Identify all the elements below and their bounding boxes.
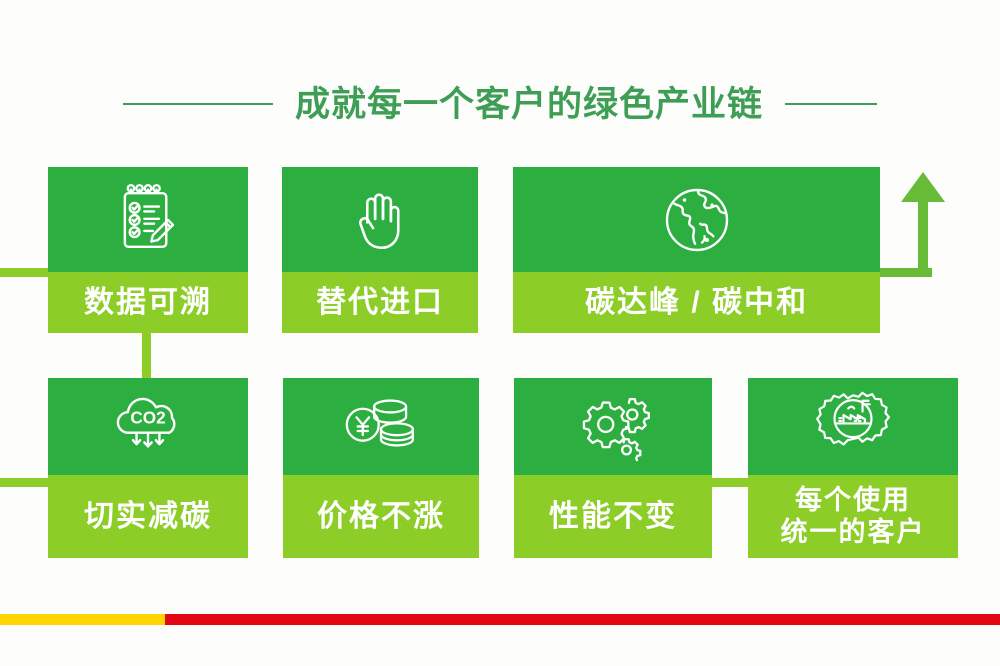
- card-label-text: 切实减碳: [84, 499, 212, 534]
- card-icon-area: [748, 378, 958, 475]
- card-label: 数据可溯: [48, 272, 248, 333]
- connector-stub-row1-left: [0, 268, 52, 277]
- bottom-bar-red: [165, 614, 1000, 625]
- svg-text:CO2: CO2: [130, 407, 165, 427]
- card-label: 价格不涨: [283, 475, 479, 558]
- factory-gear-icon: [814, 390, 892, 464]
- card-icon-area: CO2: [48, 378, 248, 475]
- flow-arrow-shaft: [918, 196, 928, 274]
- card-carbon-reduction[interactable]: CO2 切实减碳: [48, 378, 248, 558]
- card-label: 替代进口: [282, 272, 478, 333]
- card-icon-area: [48, 167, 248, 272]
- card-label: 每个使用统一的客户: [748, 475, 958, 558]
- gears-icon: [573, 390, 653, 464]
- card-icon-area: [513, 167, 880, 272]
- card-label: 切实减碳: [48, 475, 248, 558]
- infographic-canvas: 成就每一个客户的绿色产业链: [0, 0, 1000, 666]
- page-title-row: 成就每一个客户的绿色产业链: [0, 78, 1000, 130]
- flow-arrow-head-icon: [901, 172, 945, 202]
- card-label-text: 性能不变: [549, 499, 677, 534]
- card-label-text: 数据可溯: [84, 285, 212, 320]
- co2-cloud-reduction-icon: CO2: [108, 391, 188, 463]
- card-data-traceability[interactable]: 数据可溯: [48, 167, 248, 333]
- card-label-line-2: 统一的客户: [781, 517, 926, 549]
- card-unified-customers[interactable]: 每个使用统一的客户: [748, 378, 958, 558]
- card-label: 性能不变: [514, 475, 712, 558]
- yen-coins-stack-icon: [340, 392, 422, 462]
- card-label-text: 价格不涨: [317, 499, 445, 534]
- card-price-stable[interactable]: 价格不涨: [283, 378, 479, 558]
- card-label: 碳达峰 / 碳中和: [513, 272, 880, 333]
- card-label-text: 替代进口: [316, 285, 444, 320]
- card-label-text: 碳达峰 / 碳中和: [585, 285, 808, 320]
- title-rule-left: [123, 103, 273, 105]
- title-rule-right: [785, 103, 877, 105]
- card-performance-unchanged[interactable]: 性能不变: [514, 378, 712, 558]
- page-title: 成就每一个客户的绿色产业链: [295, 87, 763, 122]
- card-label-line-1: 每个使用: [781, 485, 926, 517]
- card-label-lines: 每个使用统一的客户: [781, 485, 926, 549]
- card-carbon-peak-neutrality[interactable]: 碳达峰 / 碳中和: [513, 167, 880, 333]
- card-icon-area: [283, 378, 479, 475]
- card-import-substitution[interactable]: 替代进口: [282, 167, 478, 333]
- globe-earth-icon: [657, 180, 737, 260]
- open-hand-icon: [343, 183, 417, 257]
- card-icon-area: [282, 167, 478, 272]
- card-icon-area: [514, 378, 712, 475]
- clipboard-checklist-pen-icon: [109, 181, 187, 259]
- bottom-bar-yellow: [0, 614, 165, 625]
